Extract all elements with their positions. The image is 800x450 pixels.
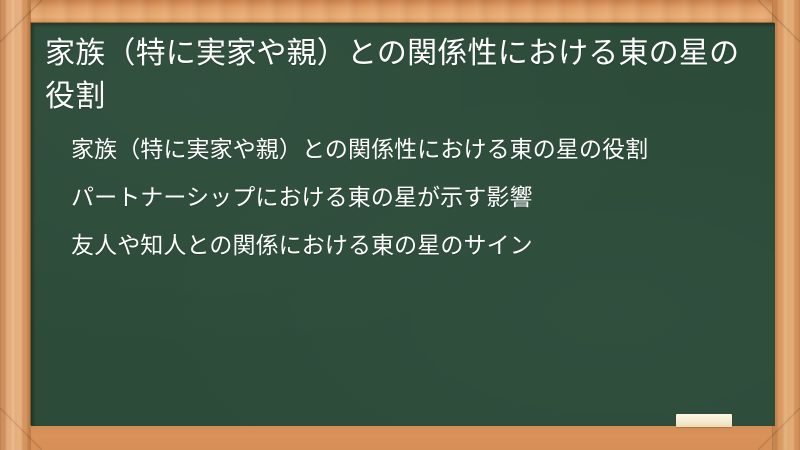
frame-bottom-rail bbox=[0, 426, 800, 450]
slide-title: 家族（特に実家や親）との関係性における東の星の役割 bbox=[45, 33, 757, 118]
frame-left-rail bbox=[0, 0, 31, 450]
chalkboard-surface: 家族（特に実家や親）との関係性における東の星の役割 家族（特に実家や親）との関係… bbox=[31, 23, 775, 426]
chalk-stick-icon bbox=[676, 414, 732, 427]
list-item: 友人や知人との関係における東の星のサイン bbox=[71, 230, 757, 262]
frame-right-rail bbox=[772, 0, 800, 450]
bullet-list: 家族（特に実家や親）との関係性における東の星の役割 パートナーシップにおける東の… bbox=[45, 134, 757, 261]
board-content: 家族（特に実家や親）との関係性における東の星の役割 家族（特に実家や親）との関係… bbox=[31, 23, 775, 426]
list-item: パートナーシップにおける東の星が示す影響 bbox=[71, 182, 757, 214]
list-item: 家族（特に実家や親）との関係性における東の星の役割 bbox=[71, 134, 757, 166]
chalkboard-slide: 家族（特に実家や親）との関係性における東の星の役割 家族（特に実家や親）との関係… bbox=[0, 0, 800, 450]
frame-top-rail bbox=[0, 0, 800, 24]
